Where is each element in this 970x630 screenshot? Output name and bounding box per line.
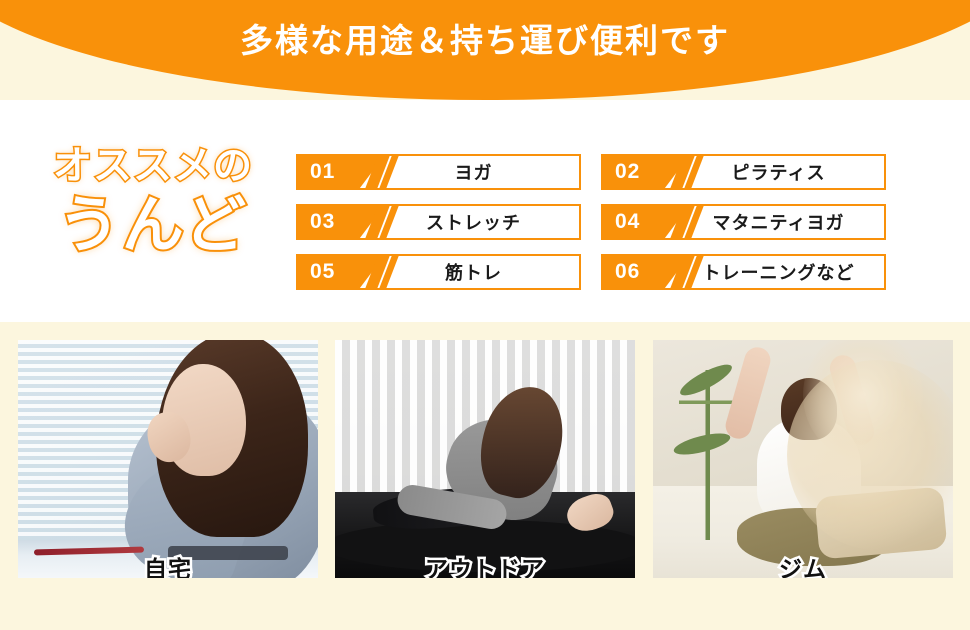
- list-item[interactable]: 03 ストレッチ: [296, 204, 581, 240]
- banner-title: 多様な用途＆持ち運び便利です: [0, 21, 970, 61]
- list-item-label: マタニティヨガ: [689, 209, 884, 235]
- photo-home: 自宅: [18, 340, 318, 578]
- photo-caption: アウトドア: [335, 550, 635, 578]
- usage-list-left-column: 01 ヨガ 03 ストレッチ 05 筋トレ: [296, 154, 581, 304]
- header-banner: 多様な用途＆持ち運び便利です: [0, 0, 970, 100]
- usage-list-right-column: 02 ピラティス 04 マタニティヨガ 06 トレーニングなど: [601, 154, 886, 304]
- photo-strip: 自宅 アウトドア ジム: [0, 340, 970, 578]
- photo-gym-plant: [679, 370, 739, 540]
- poster-canvas: 多様な用途＆持ち運び便利です オススメの うんど 01 ヨガ 03 ストレッチ …: [0, 0, 970, 630]
- heading-line-2: うんど: [28, 190, 278, 262]
- photo-caption: ジム: [653, 550, 953, 578]
- list-item-label: 筋トレ: [384, 259, 579, 285]
- photo-caption: 自宅: [18, 550, 318, 578]
- list-item[interactable]: 01 ヨガ: [296, 154, 581, 190]
- list-item[interactable]: 02 ピラティス: [601, 154, 886, 190]
- list-item[interactable]: 05 筋トレ: [296, 254, 581, 290]
- photo-outdoor: アウトドア: [335, 340, 635, 578]
- list-item-label: ヨガ: [384, 159, 579, 185]
- recommended-heading: オススメの うんど: [28, 140, 278, 300]
- list-item[interactable]: 04 マタニティヨガ: [601, 204, 886, 240]
- list-item-label: ピラティス: [689, 159, 884, 185]
- list-item-label: ストレッチ: [384, 209, 579, 235]
- list-item-label: トレーニングなど: [689, 259, 884, 285]
- list-item[interactable]: 06 トレーニングなど: [601, 254, 886, 290]
- heading-line-1: オススメの: [28, 140, 278, 194]
- photo-gym: ジム: [653, 340, 953, 578]
